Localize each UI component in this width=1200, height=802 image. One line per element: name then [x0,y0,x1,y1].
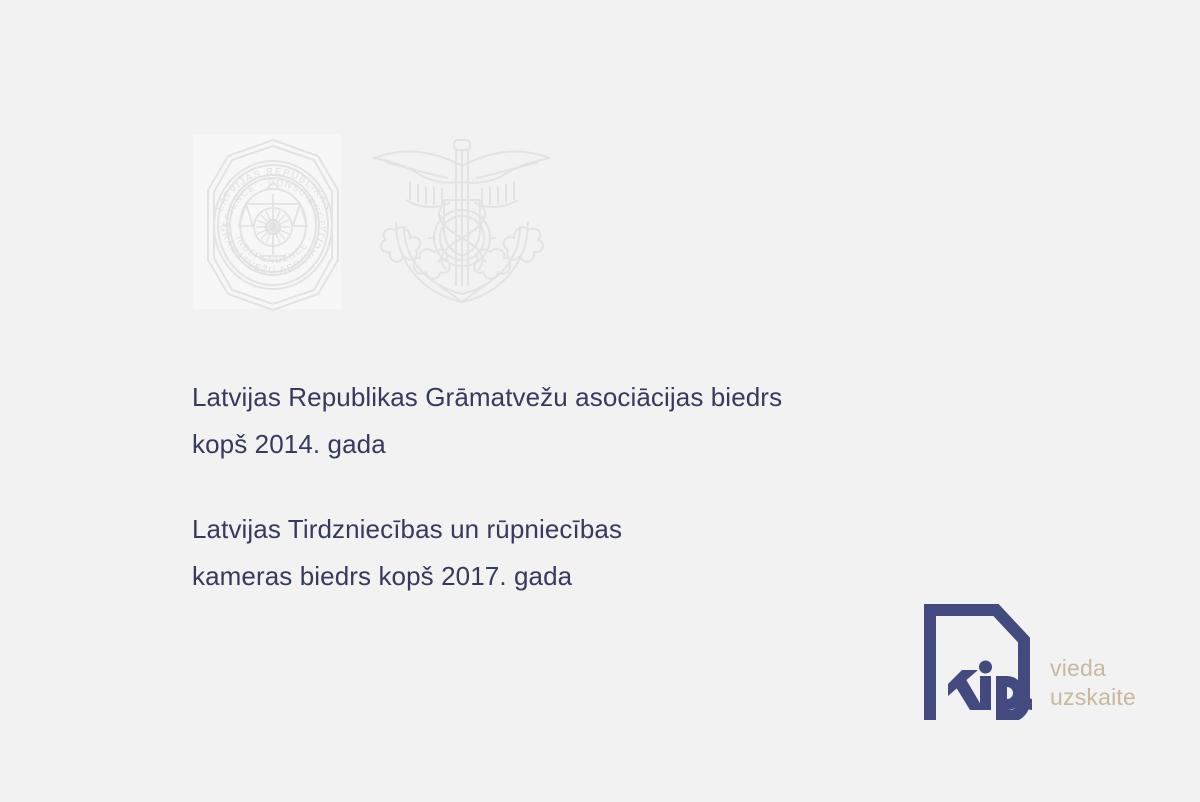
latvian-chamber-of-commerce-emblem-icon [366,126,558,308]
kipu-document-wordmark-icon [918,598,1036,720]
kipu-tagline: vieda uzskaite [1050,654,1136,720]
membership-emblems: LATVIJAS REPUBLIKAS GRĀMATVEŽU ASOCIĀCIJ… [190,126,570,316]
latvian-accountants-association-seal-icon: LATVIJAS REPUBLIKAS GRĀMATVEŽU ASOCIĀCIJ… [198,130,348,312]
kipu-logo: vieda uzskaite [918,598,1136,720]
membership-statement-chamber: Latvijas Tirdzniecības un rūpniecības ka… [192,506,932,600]
slide-canvas: LATVIJAS REPUBLIKAS GRĀMATVEŽU ASOCIĀCIJ… [0,0,1200,802]
membership-statement-accountants: Latvijas Republikas Grāmatvežu asociācij… [192,374,932,468]
membership-statements: Latvijas Republikas Grāmatvežu asociācij… [192,348,932,626]
